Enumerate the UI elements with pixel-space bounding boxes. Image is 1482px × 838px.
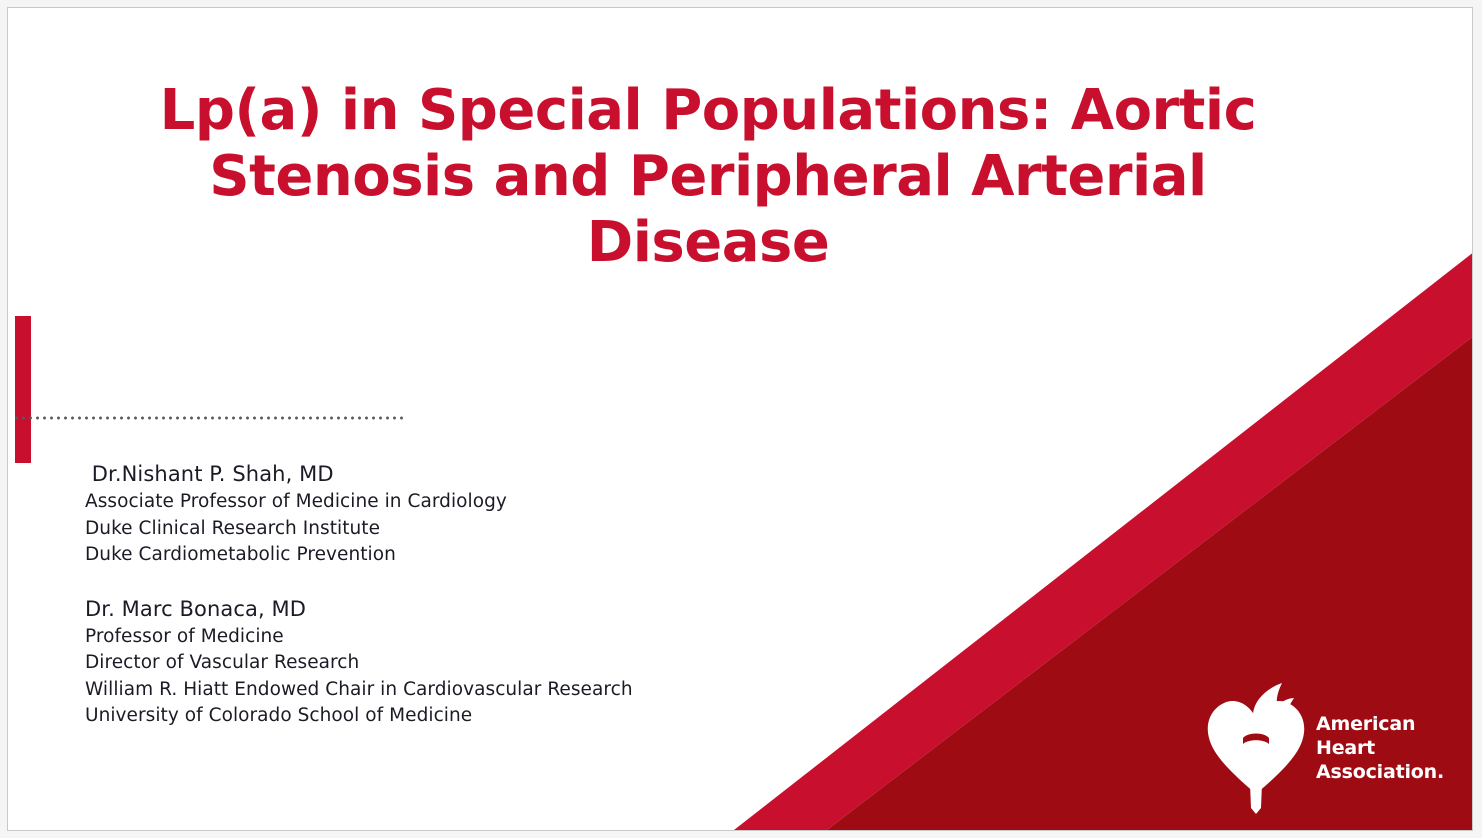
dotted-divider	[13, 416, 405, 420]
speaker-name: Dr.Nishant P. Shah, MD	[85, 460, 805, 489]
speaker-affiliation-line: Associate Professor of Medicine in Cardi…	[85, 489, 805, 516]
slide-canvas: Lp(a) in Special Populations: Aortic Ste…	[7, 7, 1473, 831]
speaker-affiliation-line: William R. Hiatt Endowed Chair in Cardio…	[85, 677, 805, 704]
speaker-list: Dr.Nishant P. Shah, MD Associate Profess…	[85, 460, 805, 730]
speaker-affiliation-line: Director of Vascular Research	[85, 650, 805, 677]
heart-torch-icon	[1204, 682, 1308, 814]
speaker-block: Dr. Marc Bonaca, MD Professor of Medicin…	[85, 595, 805, 730]
left-accent-bar	[15, 316, 31, 463]
aha-wordmark-line-3: Association.	[1316, 760, 1444, 784]
speaker-affiliation-line: University of Colorado School of Medicin…	[85, 703, 805, 730]
aha-logo: American Heart Association.	[1204, 680, 1454, 815]
speaker-name: Dr. Marc Bonaca, MD	[85, 595, 805, 624]
speaker-block: Dr.Nishant P. Shah, MD Associate Profess…	[85, 460, 805, 569]
speaker-affiliation-line: Duke Clinical Research Institute	[85, 516, 805, 543]
aha-wordmark-line-2: Heart	[1316, 736, 1444, 760]
aha-wordmark: American Heart Association.	[1316, 712, 1444, 784]
page-title: Lp(a) in Special Populations: Aortic Ste…	[128, 78, 1288, 276]
speaker-affiliation-line: Duke Cardiometabolic Prevention	[85, 542, 805, 569]
speaker-affiliation-line: Professor of Medicine	[85, 624, 805, 651]
aha-wordmark-line-1: American	[1316, 712, 1444, 736]
title-block: Lp(a) in Special Populations: Aortic Ste…	[128, 78, 1288, 276]
